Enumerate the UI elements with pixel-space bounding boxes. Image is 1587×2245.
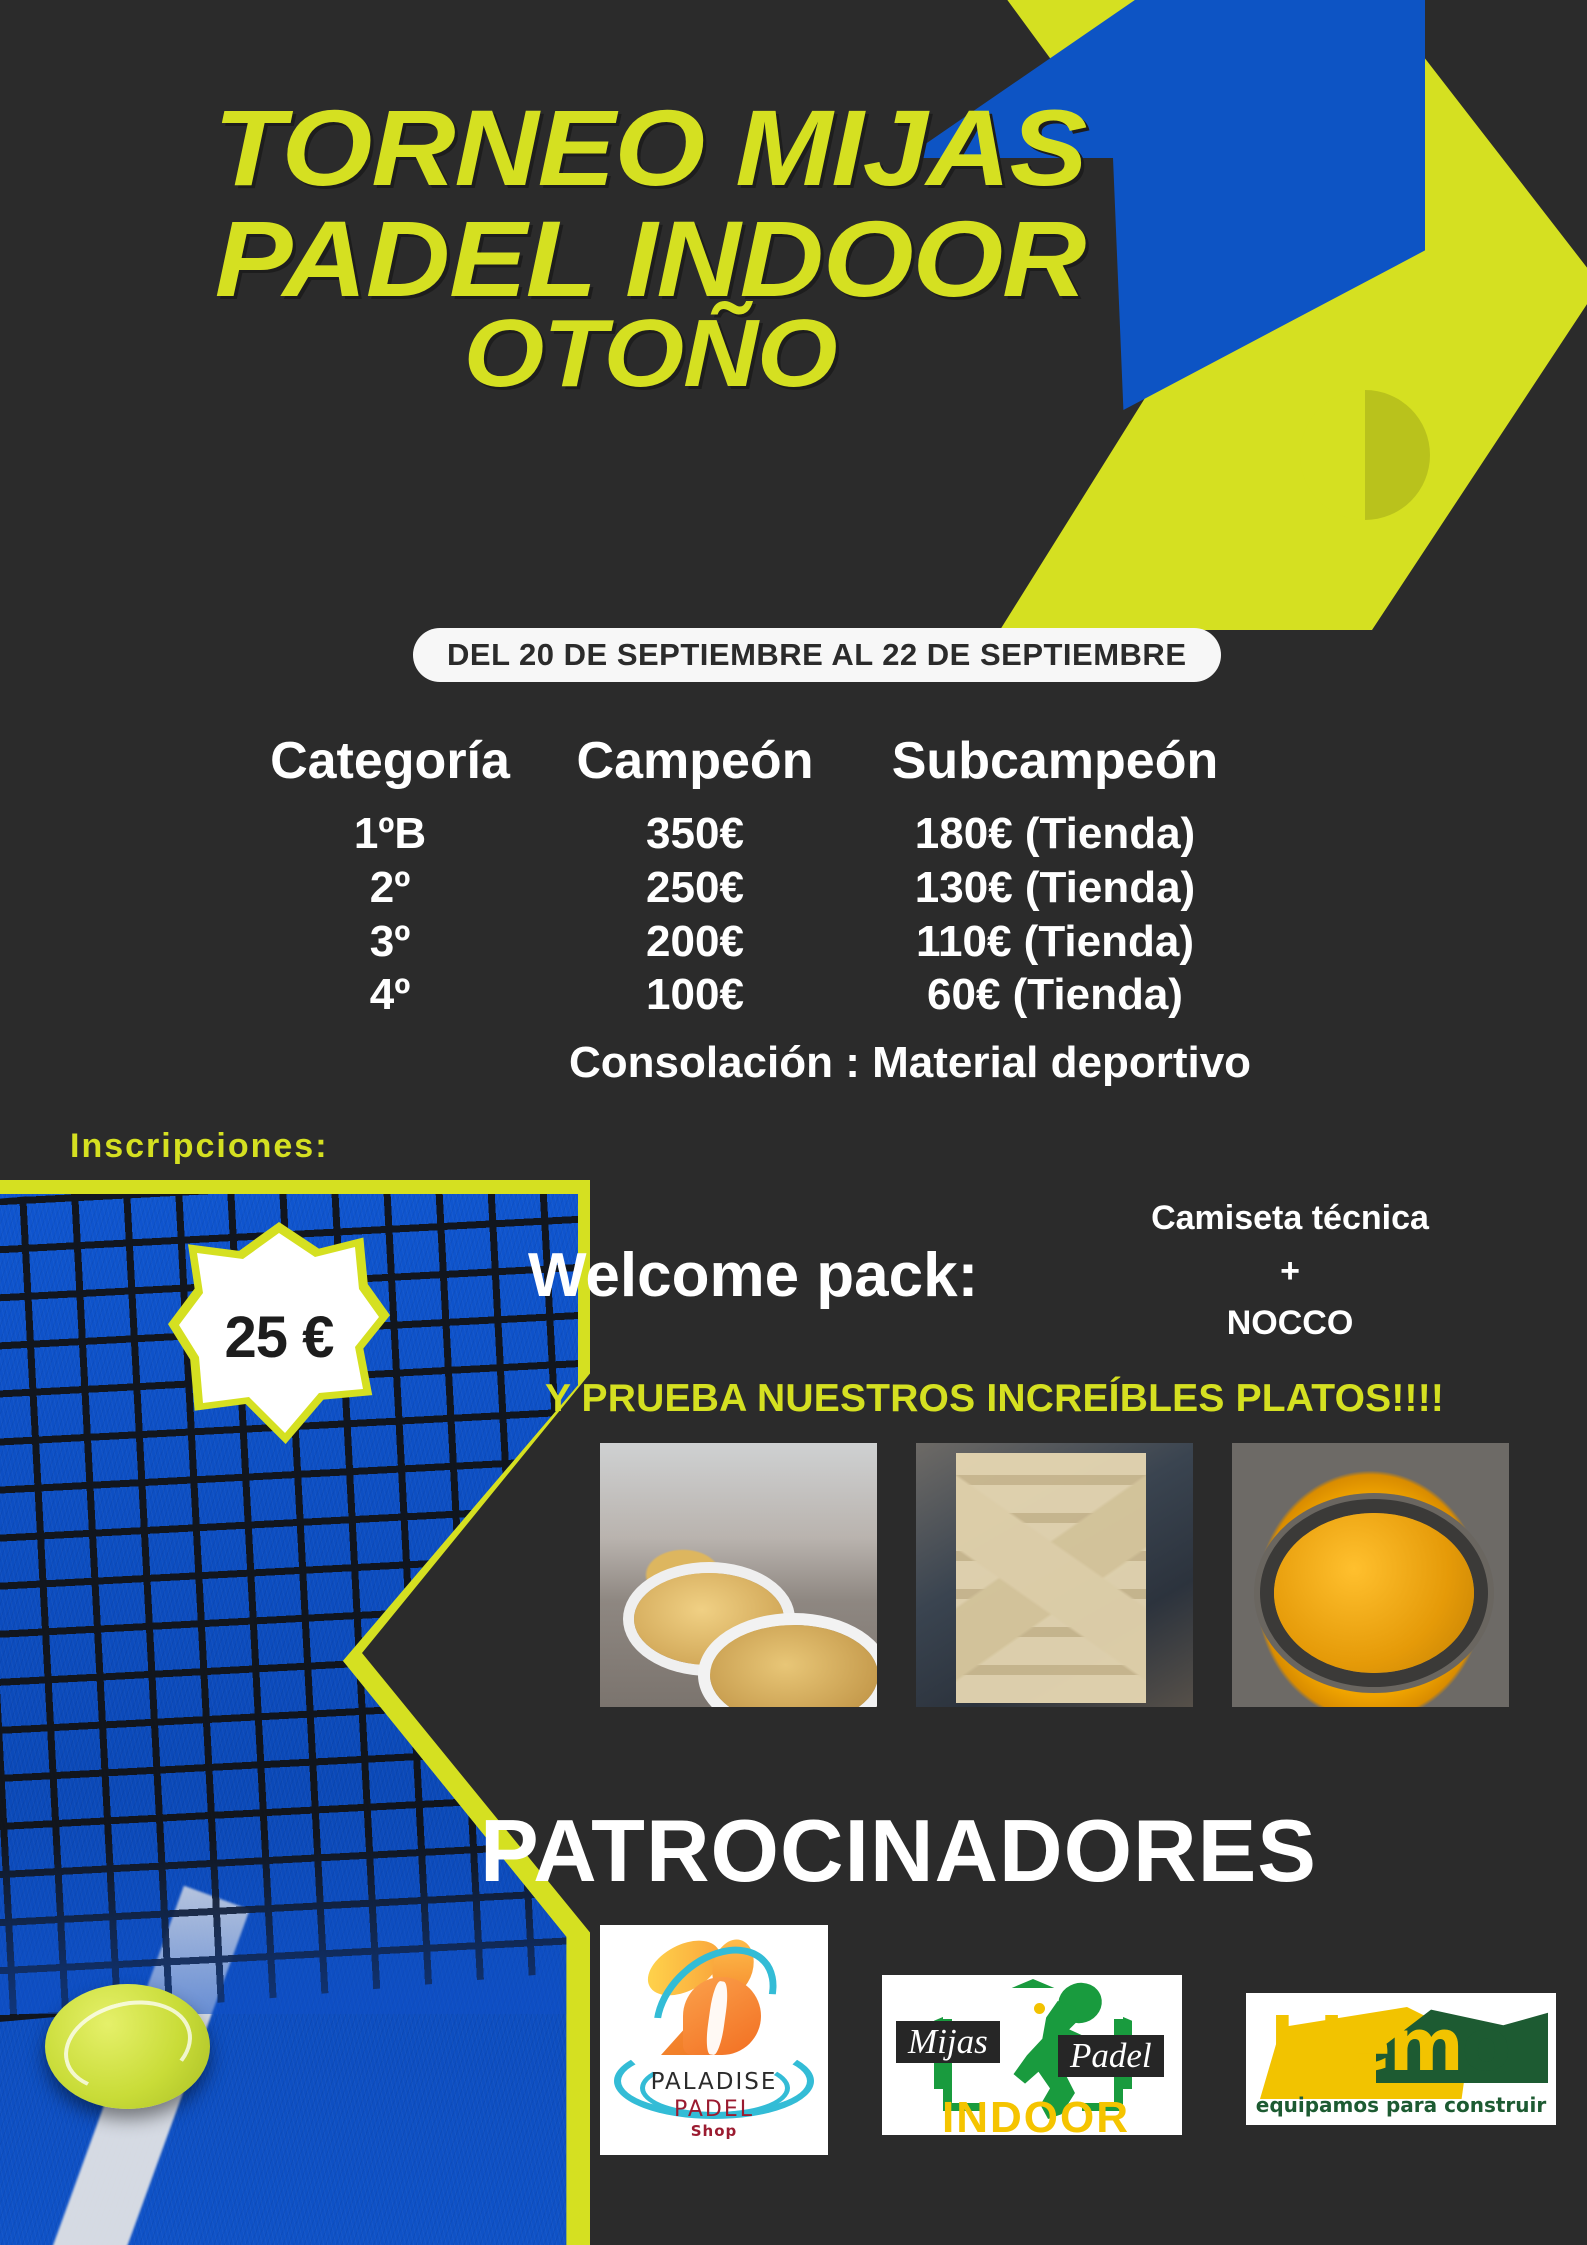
sponsor-hiemo-tagline: equipamos para construir [1246, 2093, 1556, 2117]
table-header-row: Categoría Campeón Subcampeón [230, 730, 1410, 807]
cell-subcampeon: 60€ (Tienda) [840, 968, 1270, 1022]
sponsor-mijas-line2: Padel [1058, 2035, 1164, 2077]
cell-categoria: 4º [230, 968, 550, 1022]
registration-price-badge: 25 € [168, 1222, 390, 1444]
sponsor-mijas-name: Mijas [896, 2021, 1000, 2063]
registration-label: Inscripciones: [70, 1127, 329, 1166]
ball-dot-icon [1034, 2003, 1045, 2014]
welcome-pack-label: Welcome pack: [528, 1240, 978, 1311]
title-line-2: PADEL INDOOR [0, 211, 1352, 306]
welcome-pack-item-1: Camiseta técnica [1090, 1192, 1490, 1245]
cell-campeon: 100€ [550, 968, 840, 1022]
sponsor-logo-paladise: PALADISE PADEL Shop [600, 1925, 828, 2155]
cell-categoria: 1ºB [230, 807, 550, 861]
sponsor-paladise-line2: PADEL [674, 2097, 754, 2122]
sponsor-hiemo-name-part1: hiem [1270, 2003, 1462, 2087]
sponsor-paladise-line3: Shop [691, 2122, 738, 2140]
table-row: 1ºB 350€ 180€ (Tienda) [230, 807, 1410, 861]
sponsor-logos: PALADISE PADEL Shop Mijas Padel INDOOR h… [600, 1925, 1556, 2155]
registration-price-text: 25 € [168, 1226, 390, 1448]
cell-subcampeon: 110€ (Tienda) [840, 915, 1270, 969]
consolation-prize: Consolación : Material deportivo [530, 1038, 1290, 1088]
food-photo-gallery [600, 1443, 1509, 1707]
table-row: 3º 200€ 110€ (Tienda) [230, 915, 1410, 969]
poster-title: TORNEO MIJAS PADEL INDOOR OTOÑO [0, 100, 1300, 397]
cell-categoria: 2º [230, 861, 550, 915]
sponsor-paladise-name: PALADISE [651, 2069, 778, 2095]
sponsor-mijas-line3: INDOOR [890, 2093, 1182, 2135]
header-campeon: Campeón [550, 730, 840, 807]
queso-y-nueces-photo [916, 1443, 1193, 1707]
title-line-1: TORNEO MIJAS [0, 100, 1352, 195]
paella-photo [1232, 1443, 1509, 1707]
welcome-pack-items: Camiseta técnica + NOCCO [1090, 1192, 1490, 1350]
cell-categoria: 3º [230, 915, 550, 969]
tennis-ball-photo [45, 1984, 210, 2109]
welcome-pack-item-2: NOCCO [1090, 1297, 1490, 1350]
sponsor-logo-mijas-padel: Mijas Padel INDOOR [882, 1975, 1182, 2135]
welcome-pack-plus: + [1090, 1245, 1490, 1298]
cell-campeon: 200€ [550, 915, 840, 969]
food-headline: Y PRUEBA NUESTROS INCREÍBLES PLATOS!!!! [545, 1377, 1444, 1421]
tournament-dates-banner: DEL 20 DE SEPTIEMBRE AL 22 DE SEPTIEMBRE [413, 628, 1221, 682]
cell-subcampeon: 180€ (Tienda) [840, 807, 1270, 861]
table-row: 2º 250€ 130€ (Tienda) [230, 861, 1410, 915]
tennis-ball-icon [1300, 390, 1430, 520]
cell-campeon: 250€ [550, 861, 840, 915]
header-categoria: Categoría [230, 730, 550, 807]
header-subcampeon: Subcampeón [840, 730, 1270, 807]
sponsor-hiemo-name: hiemo [1270, 2009, 1550, 2081]
sponsors-heading: PATROCINADORES [480, 1800, 1317, 1902]
cell-subcampeon: 130€ (Tienda) [840, 861, 1270, 915]
tortilla-espanola-photo [600, 1443, 877, 1707]
prize-table: Categoría Campeón Subcampeón 1ºB 350€ 18… [230, 730, 1410, 1088]
table-row: 4º 100€ 60€ (Tienda) [230, 968, 1410, 1022]
sponsor-hiemo-name-part2: o [1462, 2003, 1509, 2087]
sponsor-logo-hiemo: hiemo equipamos para construir [1246, 1993, 1556, 2125]
tournament-poster: TORNEO MIJAS PADEL INDOOR OTOÑO DEL 20 D… [0, 0, 1587, 2245]
title-line-3: OTOÑO [0, 312, 1352, 396]
cell-campeon: 350€ [550, 807, 840, 861]
